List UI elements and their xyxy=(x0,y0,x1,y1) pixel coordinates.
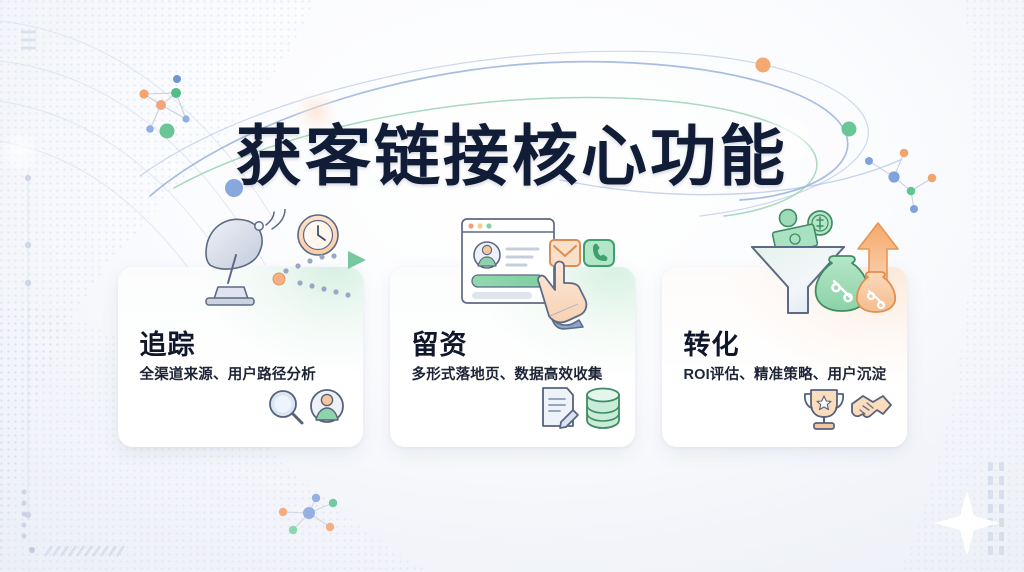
card-title-track: 追踪 xyxy=(140,323,196,362)
envelope-icon xyxy=(550,240,580,266)
card-subtitle-lead-capture: 多形式落地页、数据高效收集 xyxy=(412,363,603,384)
card-subtitle-track: 全渠道来源、用户路径分析 xyxy=(140,363,316,384)
card-title-conversion: 转化 xyxy=(684,323,740,362)
feature-cards: 追踪 全渠道来源、用户路径分析 xyxy=(0,267,1024,449)
page-title-wrap: 获客链接核心功能 xyxy=(0,78,1024,238)
feature-card-lead-capture[interactable]: 留资 多形式落地页、数据高效收集 xyxy=(390,267,635,447)
constellation-bottom xyxy=(279,494,337,534)
sparkle-icon xyxy=(934,490,1000,556)
feature-card-conversion[interactable]: 转化 ROI评估、精准策略、用户沉淀 xyxy=(662,267,907,447)
card-title-lead-capture: 留资 xyxy=(412,323,468,362)
feature-card-track[interactable]: 追踪 全渠道来源、用户路径分析 xyxy=(118,267,363,447)
phone-icon xyxy=(584,240,614,266)
right-dash-column xyxy=(988,462,1004,555)
card-subtitle-conversion: ROI评估、精准策略、用户沉淀 xyxy=(684,363,887,384)
bottom-left-dots xyxy=(21,489,124,556)
slide-canvas: 获客链接核心功能 xyxy=(0,0,1024,572)
page-title: 获客链接核心功能 xyxy=(236,122,788,193)
